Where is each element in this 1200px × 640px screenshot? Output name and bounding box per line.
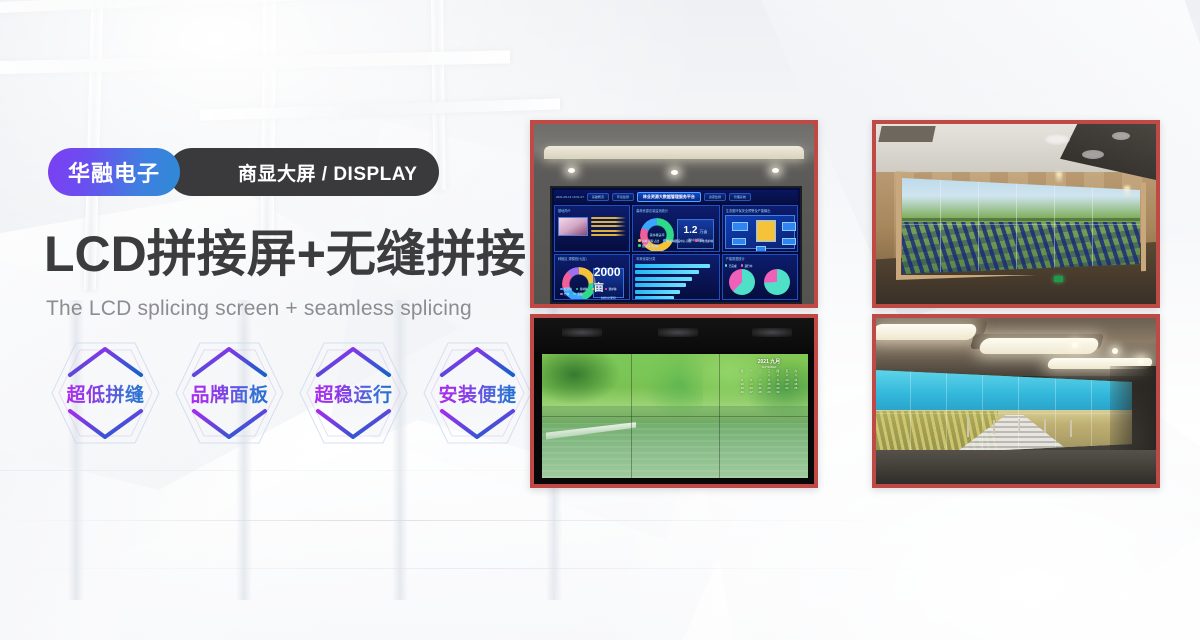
legend-item: 苗圃 [596, 287, 601, 291]
photo-willow-lake-wall: 2021 九月 SEPTEMBER 日 一 二 三 四 五 六 1 [530, 314, 818, 488]
legend-item: 经济林 [564, 287, 572, 291]
calendar-weekday: 日 [738, 370, 746, 374]
dashboard-nav-button[interactable]: 管理系统 [729, 193, 751, 201]
dashboard-panel-planting-area: 种植区 规模统计(亩) 2000亩 种植总面积 经济林 用材林 苗圃 [554, 254, 630, 301]
feature-item-4: 安装便捷 [418, 337, 537, 449]
dashboard-panel-forest-total: 森林资源总量监测统计 森林覆盖率 1.2万亩 森林总面积 林地 面积 占比 防护… [632, 205, 720, 252]
legend-item: 草地 防护林 [699, 239, 713, 243]
pie-chart [764, 269, 790, 295]
product-banner: 商显大屏 / DISPLAY 华融电子 LCD拼接屏+无缝拼接 The LCD … [0, 0, 1200, 640]
calendar-weekday: 五 [783, 370, 791, 374]
calendar-day: 30 [774, 391, 782, 395]
legend-item: 竹林 [564, 292, 569, 296]
calendar-weekday: 四 [774, 370, 782, 374]
legend-item: 防护林 [609, 287, 617, 291]
bar-chart [635, 264, 717, 298]
panel-title: 基地简介 [555, 206, 629, 214]
feature-label: 超低拼缝 [66, 380, 144, 407]
photo-wood-wall-solar-farm [872, 120, 1160, 308]
calendar-grid: 日 一 二 三 四 五 六 1 2 3 4 5 [738, 370, 800, 395]
legend-item: 果园 [577, 292, 582, 296]
page-title: LCD拼接屏+无缝拼接 [44, 227, 526, 282]
calendar-day: 24 [783, 387, 791, 391]
feature-item-2: 品牌面板 [170, 337, 289, 449]
chart-legend: 林地 面积 占比 防护林建设中心 示范 草地 防护林 经济林 用材林 [638, 239, 714, 248]
calendar-overlay: 2021 九月 SEPTEMBER 日 一 二 三 四 五 六 1 [738, 359, 800, 409]
photo-lobby-beach-boardwalk [872, 314, 1160, 488]
dashboard-screen: 2021-09-13 16:01:27 基础概况 环境监测 林业资源大数据管理服… [550, 186, 802, 304]
calendar-weekday: 一 [747, 370, 755, 374]
dashboard-row-bottom: 种植区 规模统计(亩) 2000亩 种植总面积 经济林 用材林 苗圃 [554, 254, 798, 301]
dashboard-row-top: 基地简介 森林资源总量监测统计 森林覆盖率 1.2万亩 [554, 205, 798, 252]
calendar-day: 27 [747, 391, 755, 395]
calendar-weekday: 三 [765, 370, 773, 374]
photo-control-room-dashboard: 2021-09-13 16:01:27 基础概况 环境监测 林业资源大数据管理服… [530, 120, 818, 308]
dashboard-panel-output-pies: 产能数据统计 已完成 进行中 [722, 254, 798, 301]
calendar-weekday: 二 [756, 370, 764, 374]
pie-chart-group [725, 267, 795, 298]
legend-item: 防护林建设中心 示范 [667, 239, 691, 243]
donut-center-label: 森林覆盖率 [650, 233, 665, 237]
video-wall-screen: 2021 九月 SEPTEMBER 日 一 二 三 四 五 六 1 [542, 354, 808, 478]
kpi-value: 2000 [594, 265, 621, 279]
feature-item-1: 超低拼缝 [46, 337, 165, 449]
feature-list: 超低拼缝 品牌面板 超稳运行 [46, 337, 537, 449]
panel-title: 产能数据统计 [723, 255, 797, 263]
calendar-day: 28 [756, 391, 764, 395]
feature-label: 安装便捷 [438, 380, 516, 407]
chart-legend: 经济林 用材林 苗圃 防护林 竹林 果园 [560, 287, 624, 296]
dashboard-timestamp: 2021-09-13 16:01:27 [556, 195, 584, 199]
legend-item: 林地 面积 占比 [642, 239, 659, 243]
calendar-day: 29 [765, 391, 773, 395]
pie-chart [729, 269, 755, 295]
feature-label: 品牌面板 [190, 380, 268, 407]
calendar-day: 26 [738, 391, 746, 395]
feature-item-3: 超稳运行 [294, 337, 413, 449]
panel-title: 生态图环保安全预警及产能输出 [723, 206, 797, 214]
panel-title: 种植区 规模统计(亩) [555, 255, 629, 263]
dashboard-nav-button[interactable]: 环境监测 [612, 193, 634, 201]
dashboard-panel-harvest-bars: 年采伐量分类 [632, 254, 720, 301]
kpi-value: 1.2 [684, 225, 698, 236]
dashboard-panel-intro: 基地简介 [554, 205, 630, 252]
feature-label: 超稳运行 [314, 380, 392, 407]
kpi-label: 种植总面积 [601, 296, 616, 300]
legend-item: 用材林 [580, 287, 588, 291]
video-wall-frame [896, 168, 1146, 280]
dashboard-panel-eco-flow: 生态图环保安全预警及产能输出 [722, 205, 798, 252]
brand-name-label: 华融电子 [48, 148, 180, 196]
kpi-unit: 万亩 [699, 229, 707, 234]
dashboard-nav-button[interactable]: 基础概况 [587, 193, 609, 201]
video-wall-screen [874, 370, 1132, 456]
calendar-weekday: 六 [792, 370, 800, 374]
flow-diagram [725, 215, 795, 249]
panel-title: 森林资源总量监测统计 [633, 206, 719, 214]
calendar-day: 25 [792, 387, 800, 391]
brand-category-label: 商显大屏 / DISPLAY [168, 148, 439, 196]
calendar-heading: 2021 九月 [738, 359, 800, 366]
dashboard-navbar: 2021-09-13 16:01:27 基础概况 环境监测 林业资源大数据管理服… [554, 190, 798, 203]
brand-badge: 商显大屏 / DISPLAY 华融电子 [48, 148, 180, 196]
legend-item: 经济林 用材林 [642, 244, 658, 248]
dashboard-title: 林业资源大数据管理服务平台 [637, 192, 701, 202]
dashboard-nav-button[interactable]: 资源监测 [704, 193, 726, 201]
page-subtitle: The LCD splicing screen + seamless splic… [46, 297, 472, 321]
panel-title: 年采伐量分类 [633, 255, 719, 263]
